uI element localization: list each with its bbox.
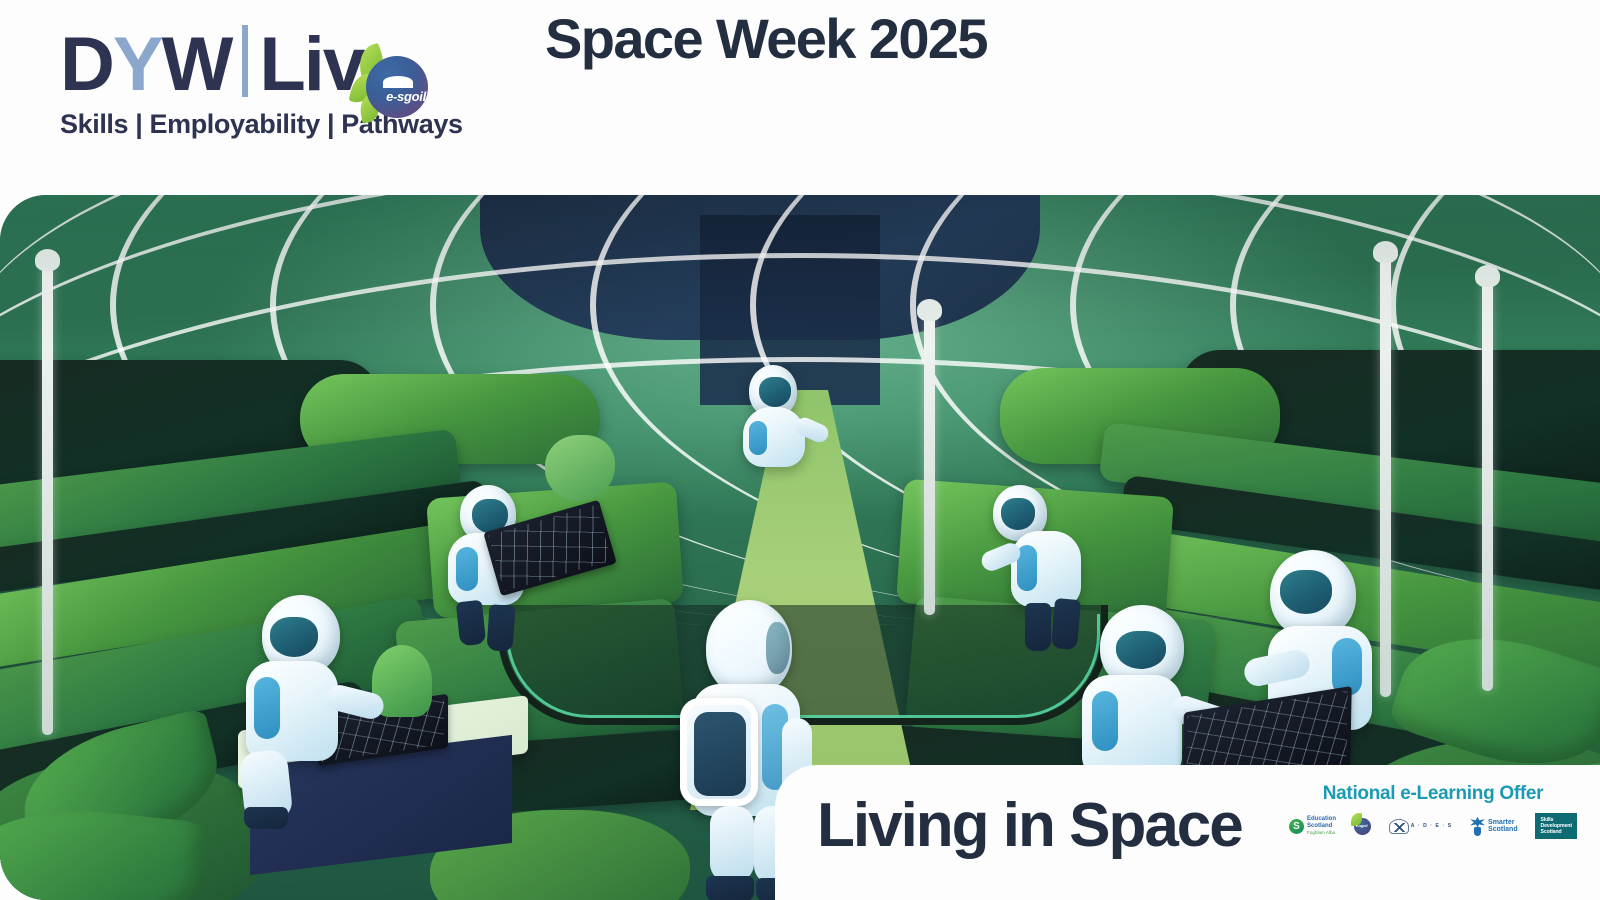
logo-letter-y: Y: [113, 30, 162, 100]
partner-logo-row: Education Scotland Foghlam Alba A · D · …: [1287, 813, 1579, 839]
logo-word-live: Liv: [259, 30, 363, 100]
lamp-pole: [924, 315, 935, 615]
astronaut-figure: [238, 595, 368, 815]
partners-heading: National e-Learning Offer: [1287, 783, 1579, 805]
logo-letter-w: W: [162, 30, 232, 100]
page-title-bottom: Living in Space: [817, 790, 1242, 861]
education-scotland-text: Education Scotland Foghlam Alba: [1307, 816, 1336, 836]
saltire-icon: [1470, 817, 1485, 836]
esgoil-logo-icon: e-sgoil: [352, 46, 428, 122]
ades-logo[interactable]: A · D · E · S: [1389, 819, 1452, 834]
footer-card: Living in Space National e-Learning Offe…: [775, 765, 1600, 900]
astronaut-figure: [735, 365, 825, 485]
partner-logos-strip: National e-Learning Offer Education Scot…: [1287, 783, 1579, 839]
logo-letter-d: D: [60, 30, 113, 100]
lamp-pole: [42, 265, 53, 735]
esgoil-partner-icon: [1354, 818, 1371, 835]
education-scotland-icon: [1289, 819, 1304, 834]
education-scotland-logo[interactable]: Education Scotland Foghlam Alba: [1289, 816, 1336, 836]
ades-label: A · D · E · S: [1411, 823, 1452, 829]
esgoil-partner-logo[interactable]: [1354, 818, 1371, 835]
lamp-pole: [1482, 281, 1493, 691]
page-title-top: Space Week 2025: [545, 6, 987, 71]
poster-canvas: D Y W Liv Skills | Employability | Pathw…: [0, 0, 1600, 900]
skills-development-scotland-logo[interactable]: Skills Development Scotland: [1535, 813, 1576, 839]
header-card: D Y W Liv Skills | Employability | Pathw…: [0, 0, 492, 192]
logo-divider: [242, 25, 248, 97]
esgoil-label: e-sgoil: [380, 89, 432, 104]
smarter-scotland-logo[interactable]: Smarter Scotland: [1470, 817, 1518, 836]
smarter-scotland-text: Smarter Scotland: [1488, 819, 1518, 834]
ades-icon: [1389, 819, 1409, 834]
